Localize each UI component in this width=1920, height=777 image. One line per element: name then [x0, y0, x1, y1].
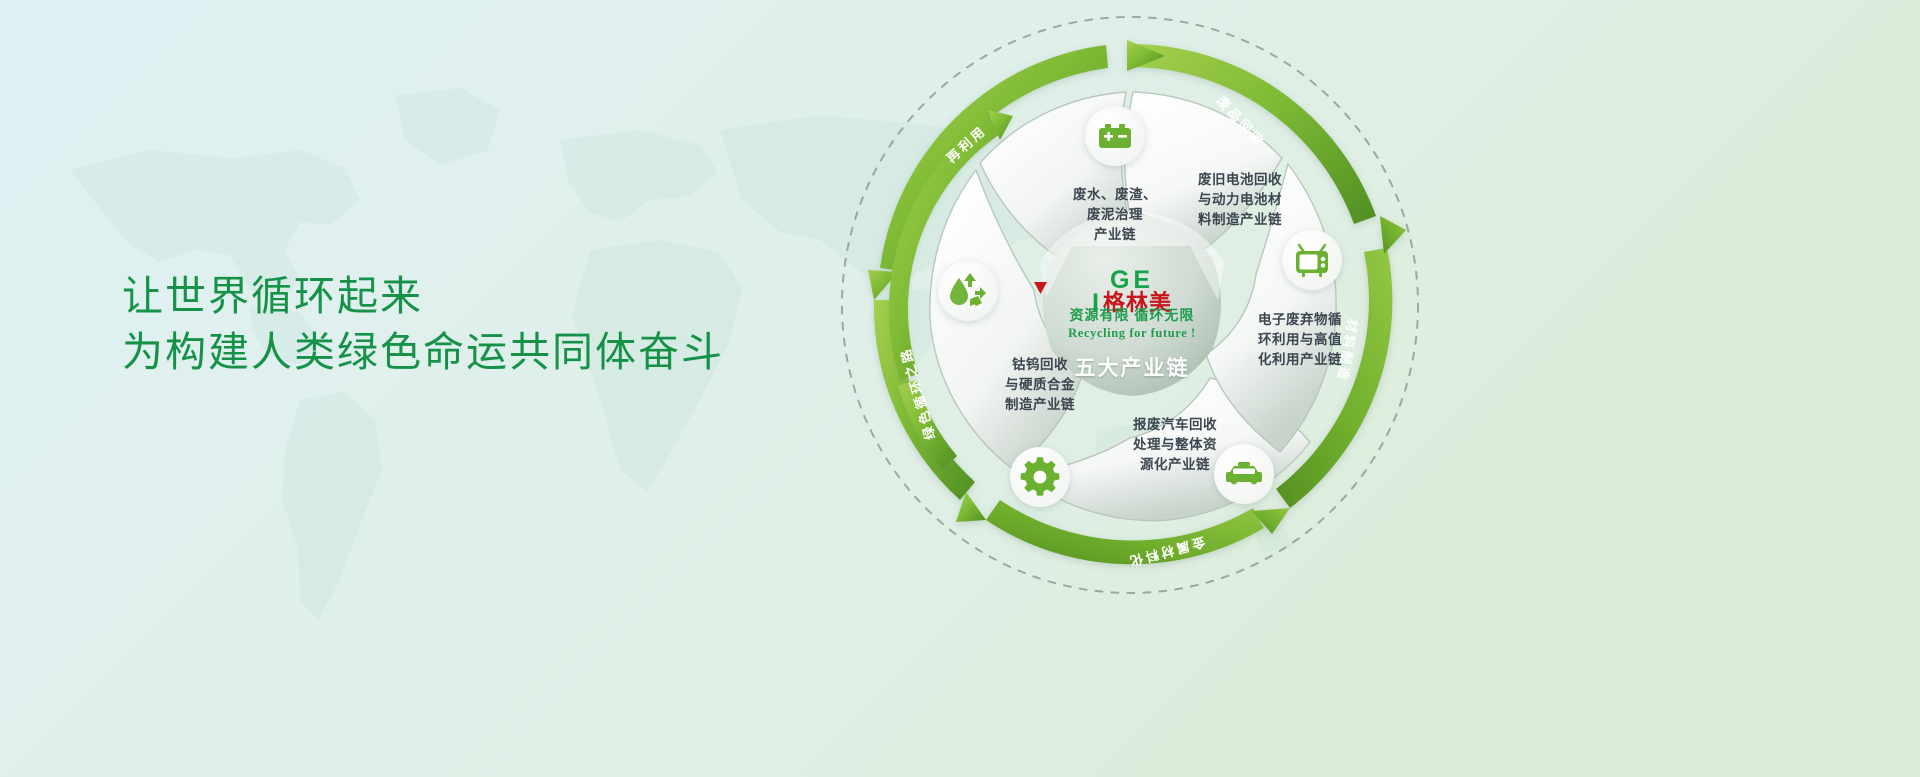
- tagline: 让世界循环起来 为构建人类绿色命运共同体奋斗: [122, 268, 724, 380]
- gear-icon-badge: [1010, 447, 1070, 507]
- center-title: 五大产业链: [1032, 352, 1232, 382]
- water-recycle-icon-badge: [938, 261, 998, 321]
- logo-slogan-en: Recycling for future !: [1032, 326, 1232, 341]
- tagline-line-2: 为构建人类绿色命运共同体奋斗: [122, 324, 724, 380]
- logo-slogan-cn: 资源有限 循环无限: [1032, 305, 1232, 325]
- five-industry-chains-diagram: 废水、废渣、 废泥治理 产业链 废旧电池回收 与动力电池材 料制造产业链 电子废…: [820, 0, 1440, 777]
- segment-label-battery-chain: 废旧电池回收 与动力电池材 料制造产业链: [1155, 170, 1325, 230]
- battery-icon-badge: [1085, 106, 1145, 166]
- logo-triangle-mark: [1034, 280, 1048, 300]
- tagline-line-1: 让世界循环起来: [122, 268, 724, 324]
- segment-label-scrap-car-chain: 报废汽车回收 处理与整体资 源化产业链: [1095, 415, 1255, 475]
- tv-icon-badge: [1282, 230, 1342, 290]
- gem-logo: GEI 格林美 资源有限 循环无限 Recycling for future !: [1032, 280, 1232, 341]
